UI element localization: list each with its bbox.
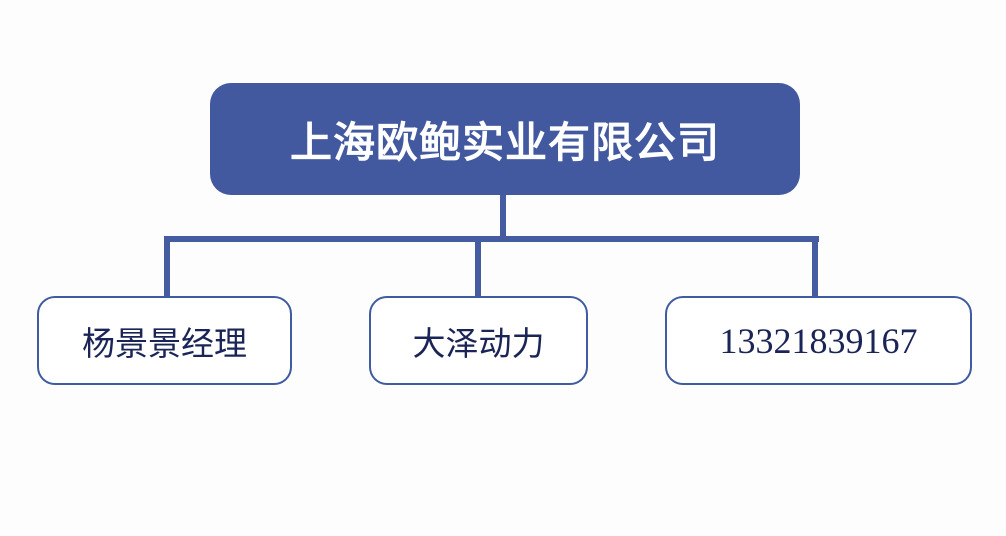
connector-drop-child-3 <box>812 236 818 298</box>
org-node-child-brand[interactable]: 大泽动力 <box>369 296 588 385</box>
connector-drop-child-1 <box>164 236 170 298</box>
connector-root-stem <box>500 190 506 240</box>
org-node-child-2-label: 大泽动力 <box>413 317 545 365</box>
org-node-root[interactable]: 上海欧鲍实业有限公司 <box>210 83 800 195</box>
org-node-child-contact-person[interactable]: 杨景景经理 <box>37 296 292 385</box>
connector-drop-child-2 <box>475 236 481 298</box>
connector-horizontal-bus <box>164 236 819 242</box>
org-node-child-phone-number[interactable]: 13321839167 <box>665 296 972 385</box>
org-node-child-1-label: 杨景景经理 <box>82 317 247 365</box>
org-node-child-3-label: 13321839167 <box>720 320 918 362</box>
org-node-root-label: 上海欧鲍实业有限公司 <box>290 109 720 170</box>
org-chart-canvas: 上海欧鲍实业有限公司 杨景景经理 大泽动力 13321839167 <box>0 0 1006 536</box>
